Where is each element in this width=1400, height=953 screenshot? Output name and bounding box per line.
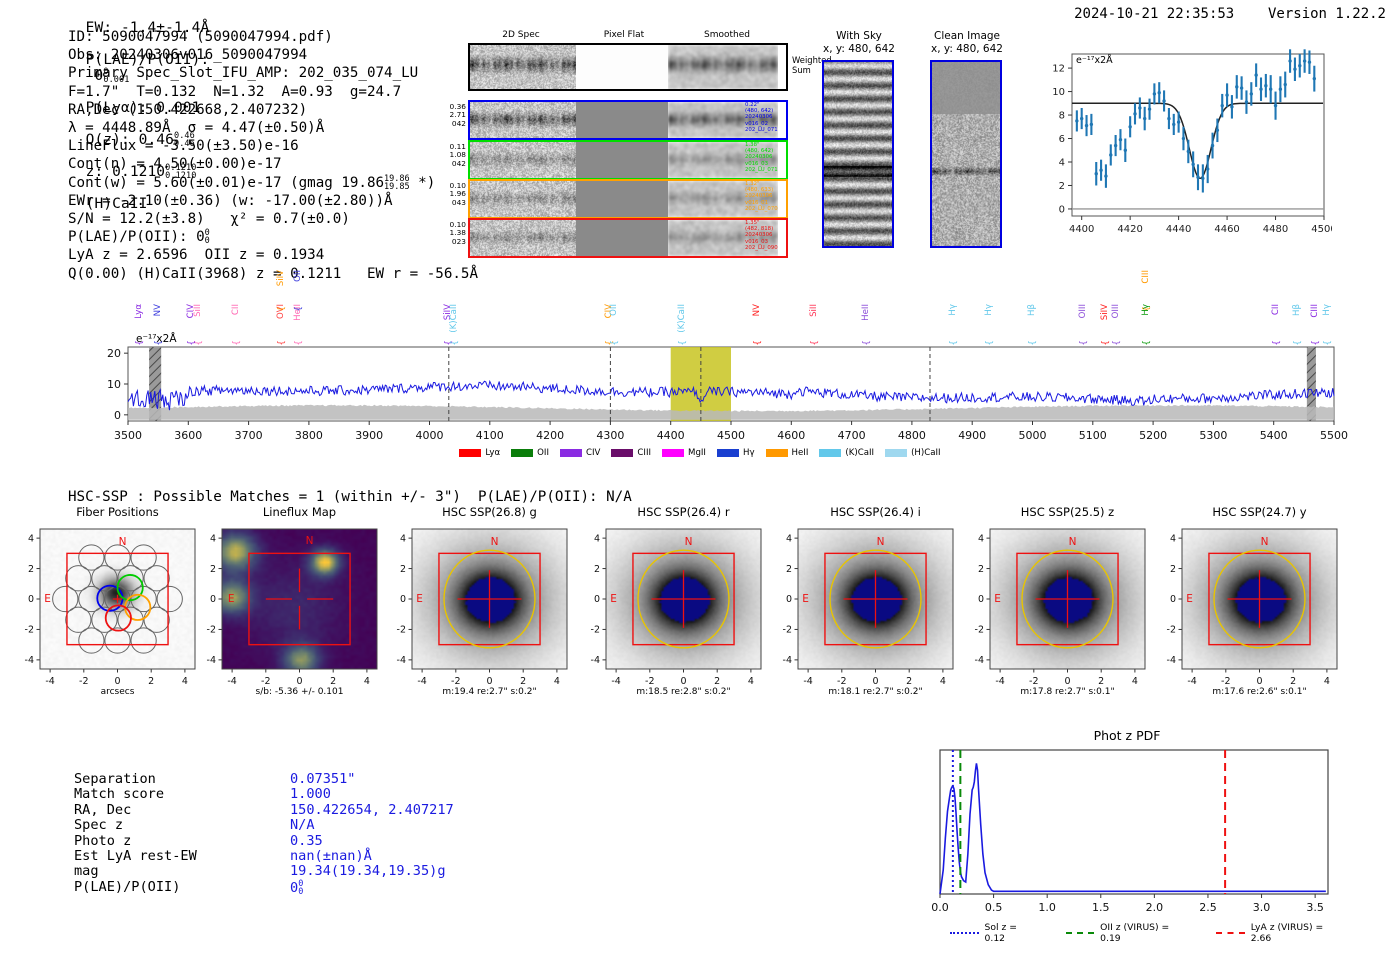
svg-text:5200: 5200 — [1139, 429, 1167, 442]
svg-text:E: E — [44, 593, 51, 605]
svg-text:4100: 4100 — [476, 429, 504, 442]
sky-panel-subtitle-0: x, y: 480, 642 — [804, 43, 914, 56]
svg-text:0: 0 — [296, 676, 302, 687]
cutout-cell-0-1 — [576, 102, 668, 138]
spectrum-line-label-KCaII-13: (K)CaII — [678, 304, 687, 333]
legend-item-6: HeII — [766, 448, 809, 458]
spectrum-line-label-KCaII-10: (K)CaII — [450, 304, 459, 333]
legend-swatch-1 — [511, 449, 533, 457]
svg-text:6: 6 — [1059, 134, 1065, 145]
spectrum-line-brace-10: { — [450, 340, 460, 346]
photz-legend-item-2: LyA z (VIRUS) = 2.66 — [1216, 922, 1342, 944]
legend-label-1: OII — [537, 448, 549, 458]
svg-text:0: 0 — [1256, 676, 1262, 687]
spectrum-line-brace-0: { — [135, 340, 145, 346]
svg-text:3500: 3500 — [114, 429, 142, 442]
svg-text:-2: -2 — [1221, 676, 1230, 687]
legend-label-4: MgII — [688, 448, 706, 458]
spectrum-line-brace-17: { — [949, 340, 959, 346]
photz-legend-swatch-1 — [1066, 932, 1095, 934]
legend-item-5: Hγ — [717, 448, 755, 458]
svg-text:2: 2 — [906, 676, 912, 687]
svg-text:3.5: 3.5 — [1306, 901, 1324, 914]
spectrum-line-brace-27: { — [1311, 340, 1321, 346]
cutout-right-val-2-4: 202_LU_070 — [745, 206, 805, 212]
legend-item-3: CIII — [611, 448, 651, 458]
match-row-value-2: 150.422654, 2.407217 — [290, 803, 454, 818]
svg-text:2: 2 — [330, 676, 336, 687]
cutout-column-header-0: 2D Spec — [468, 30, 574, 40]
info-line-7: Cont(n) = 4.50(±0.00)e-17 — [68, 155, 478, 173]
spectrum-line-label-HeII-16: HeII — [862, 304, 871, 321]
spectrum-line-label-CIV-3: CIV — [187, 304, 196, 318]
hsc-panel-caption-6: m:17.6 re:2.6" s:0.1" — [1147, 687, 1372, 697]
svg-text:3800: 3800 — [295, 429, 323, 442]
hsc-panel-title-2: HSC SSP(26.8) g — [392, 505, 587, 519]
cutout-row-2 — [468, 179, 788, 219]
legend-item-7: (K)CaII — [819, 448, 874, 458]
info-plae-errs: 00 — [205, 229, 210, 245]
svg-text:4: 4 — [1059, 158, 1065, 169]
svg-text:0: 0 — [28, 594, 34, 605]
svg-text:3700: 3700 — [235, 429, 263, 442]
svg-text:20: 20 — [107, 347, 121, 360]
hsc-panel-title-3: HSC SSP(26.4) r — [586, 505, 781, 519]
svg-text:E: E — [610, 593, 617, 605]
svg-text:-4: -4 — [1167, 655, 1176, 666]
sky-panel-title-text-0: With Sky — [804, 30, 914, 43]
spectrum-line-label-CII-25: CII — [1272, 304, 1281, 315]
svg-text:2: 2 — [594, 564, 600, 575]
cutout-row-left-values-0: 0.362.71042 — [440, 103, 466, 128]
line-profile-plot: 440044204440446044804500024681012e⁻¹⁷x2Å — [1032, 42, 1332, 254]
match-row-value-6: 19.34(19.34,19.35)g — [290, 864, 446, 879]
svg-text:-2: -2 — [79, 676, 88, 687]
hsc-panel-caption-2: m:19.4 re:2.7" s:0.2" — [377, 687, 602, 697]
cutout-left-val-1-2: 042 — [440, 160, 466, 168]
legend-item-8: (H)CaII — [885, 448, 941, 458]
info-line-4: RA,Dec (150.422668,2.407232) — [68, 101, 478, 119]
svg-text:4: 4 — [1324, 676, 1330, 687]
spec-cutout-panels: 2D SpecPixel FlatSmoothedWeighted Sum0.3… — [440, 30, 790, 255]
svg-text:4: 4 — [748, 676, 754, 687]
svg-text:N: N — [877, 536, 885, 548]
info-line-11: P(LAE)/P(OII): 000 — [68, 228, 478, 246]
legend-item-2: CIV — [560, 448, 600, 458]
svg-text:10: 10 — [1052, 87, 1065, 98]
spectrum-line-brace-15: { — [810, 340, 820, 346]
svg-text:4900: 4900 — [958, 429, 986, 442]
svg-text:0: 0 — [210, 594, 216, 605]
svg-text:4500: 4500 — [1311, 224, 1332, 235]
spectrum-line-brace-16: { — [862, 340, 872, 346]
svg-text:-2: -2 — [645, 676, 654, 687]
legend-label-5: Hγ — [743, 448, 755, 458]
legend-label-7: (K)CaII — [845, 448, 874, 458]
hsc-panel-title-1: Lineflux Map — [202, 505, 397, 519]
svg-text:-4: -4 — [417, 676, 426, 687]
svg-text:2: 2 — [978, 564, 984, 575]
svg-text:2: 2 — [210, 564, 216, 575]
legend-item-4: MgII — [662, 448, 706, 458]
photz-legend-label-0: Sol z = 0.12 — [985, 922, 1038, 944]
svg-text:-4: -4 — [227, 676, 236, 687]
svg-text:2.0: 2.0 — [1146, 901, 1164, 914]
info-line-5: λ = 4448.89Å σ = 4.47(±0.50)Å — [68, 119, 478, 137]
clean-image-masked-region — [932, 62, 1000, 114]
spectrum-legend: LyαOIICIVCIIIMgIIHγHeII(K)CaII(H)CaII — [0, 448, 1400, 458]
full-spectrum-plot: 0102035003600370038003900400041004200430… — [0, 262, 1400, 472]
cutout-left-val-2-2: 043 — [440, 199, 466, 207]
svg-text:0: 0 — [114, 676, 120, 687]
spectrum-line-brace-4: { — [232, 340, 242, 346]
match-row-value-0: 0.07351" — [290, 772, 355, 787]
hsc-panel-row: Fiber Positions-4-4-2-2002244NEarcsecsLi… — [0, 505, 1400, 720]
svg-text:4: 4 — [786, 533, 792, 544]
version-label: Version 1.22.2 — [1268, 6, 1386, 22]
sky-panel-title-1: Clean Imagex, y: 480, 642 — [912, 30, 1022, 56]
info-line-10: S/N = 12.2(±3.8) χ² = 0.7(±0.0) — [68, 210, 478, 228]
header-timestamp-version: 2024-10-21 22:35:53 Version 1.22.2 — [1074, 6, 1386, 22]
svg-text:1.0: 1.0 — [1038, 901, 1056, 914]
svg-text:2: 2 — [28, 564, 34, 575]
svg-text:0: 0 — [400, 594, 406, 605]
spectrum-line-label-OII-12: OII — [610, 304, 619, 316]
match-plae-errs: 00 — [298, 880, 303, 896]
svg-text:-2: -2 — [783, 625, 792, 636]
spectrum-line-brace-26: { — [1293, 340, 1303, 346]
svg-text:0: 0 — [680, 676, 686, 687]
svg-text:3600: 3600 — [174, 429, 202, 442]
cutout-row-right-values-3: 1.35"(482, 818)20240306v016_03202_LU_090 — [745, 220, 805, 251]
svg-text:-2: -2 — [451, 676, 460, 687]
spectrum-line-brace-28: { — [1323, 340, 1333, 346]
cutout-right-val-3-4: 202_LU_090 — [745, 245, 805, 251]
svg-text:4: 4 — [400, 533, 406, 544]
legend-swatch-3 — [611, 449, 633, 457]
svg-text:4460: 4460 — [1214, 224, 1239, 235]
match-row-key-0: Separation — [74, 772, 156, 787]
cutout-row-left-values-1: 0.111.08042 — [440, 143, 466, 168]
cutout-left-val-3-2: 023 — [440, 238, 466, 246]
svg-text:4: 4 — [182, 676, 188, 687]
spectrum-line-label-Hγ-28: Hγ — [1323, 304, 1332, 316]
svg-text:4: 4 — [364, 676, 370, 687]
svg-text:-2: -2 — [1029, 676, 1038, 687]
cutout-row-right-values-0: 0.22"(480, 642)20240306v016_02202_LU_071 — [745, 102, 805, 133]
sky-panel-image-0 — [822, 60, 894, 248]
cutout-cell-1-0 — [470, 142, 576, 178]
svg-text:0: 0 — [786, 594, 792, 605]
svg-text:2: 2 — [520, 676, 526, 687]
svg-text:5000: 5000 — [1019, 429, 1047, 442]
svg-text:4700: 4700 — [838, 429, 866, 442]
spectrum-line-label-CII-4: CII — [232, 304, 241, 315]
info-line-1: Obs: 20240306v016_5090047994 — [68, 46, 478, 64]
spectrum-line-brace-24: { — [1142, 340, 1152, 346]
svg-text:E: E — [228, 593, 235, 605]
svg-text:0: 0 — [594, 594, 600, 605]
spectrum-line-brace-7: { — [294, 340, 304, 346]
svg-text:2: 2 — [148, 676, 154, 687]
svg-text:0: 0 — [1064, 676, 1070, 687]
match-row-key-5: Est LyA rest-EW — [74, 849, 197, 864]
legend-swatch-2 — [560, 449, 582, 457]
legend-item-1: OII — [511, 448, 549, 458]
svg-text:0: 0 — [872, 676, 878, 687]
sky-panel-subtitle-1: x, y: 480, 642 — [912, 43, 1022, 56]
svg-text:4500: 4500 — [717, 429, 745, 442]
cutout-cell-3-1 — [576, 220, 668, 256]
svg-text:-4: -4 — [611, 676, 620, 687]
spectrum-line-brace-19: { — [1028, 340, 1038, 346]
svg-text:4: 4 — [978, 533, 984, 544]
svg-text:E: E — [416, 593, 423, 605]
svg-text:E: E — [802, 593, 809, 605]
spectrum-line-brace-20: { — [1079, 340, 1089, 346]
gmag-sub: 19.85 — [384, 183, 410, 191]
svg-text:E: E — [1186, 593, 1193, 605]
svg-text:2: 2 — [1059, 181, 1065, 192]
svg-text:-4: -4 — [975, 655, 984, 666]
svg-text:-2: -2 — [397, 625, 406, 636]
legend-swatch-8 — [885, 449, 907, 457]
cutout-row-1 — [468, 140, 788, 180]
svg-text:3900: 3900 — [355, 429, 383, 442]
legend-swatch-6 — [766, 449, 788, 457]
source-info-block: ID: 5090047994 (5090047994.pdf)Obs: 2024… — [68, 28, 478, 283]
svg-text:3.0: 3.0 — [1253, 901, 1271, 914]
match-row-value-7: 000 — [290, 880, 303, 896]
cutout-column-header-1: Pixel Flat — [578, 30, 670, 40]
photz-legend-label-2: LyA z (VIRUS) = 2.66 — [1251, 922, 1342, 944]
svg-text:4440: 4440 — [1166, 224, 1191, 235]
cutout-row-right-values-2: 1.32"(480, 633)20240306v016_01202_LU_070 — [745, 181, 805, 212]
line-profile-units-annotation: e⁻¹⁷x2Å — [1076, 55, 1113, 66]
spectrum-line-label-Hγ-24: Hγ — [1142, 304, 1151, 316]
spectrum-line-label-SiIV-6: SiIV — [277, 270, 286, 286]
legend-swatch-0 — [459, 449, 481, 457]
svg-text:2: 2 — [1290, 676, 1296, 687]
legend-label-2: CIV — [586, 448, 600, 458]
cutout-cell-1-1 — [576, 142, 668, 178]
spectrum-line-label-Lyα-0: Lyα — [135, 304, 144, 319]
spectrum-line-label-Hβ-19: Hβ — [1028, 304, 1037, 316]
cutout-cell-ws-2 — [668, 45, 778, 89]
spectrum-line-brace-6: { — [277, 306, 287, 312]
photz-legend-item-0: Sol z = 0.12 — [950, 922, 1038, 944]
spectrum-line-brace-13: { — [678, 340, 688, 346]
svg-text:0: 0 — [486, 676, 492, 687]
svg-text:N: N — [119, 536, 127, 548]
svg-text:-4: -4 — [803, 676, 812, 687]
spectrum-line-brace-14: { — [753, 340, 763, 346]
spectrum-line-label-OII-8: OII — [294, 270, 303, 282]
svg-text:N: N — [1069, 536, 1077, 548]
sky-panel-image-1 — [930, 60, 1002, 248]
legend-label-8: (H)CaII — [911, 448, 941, 458]
match-row-key-7: P(LAE)/P(OII) — [74, 880, 180, 895]
info-line-8: Cont(w) = 5.60(±0.01)e-17 (gmag 19.8619.… — [68, 174, 478, 192]
gmag-errs: 19.8619.85 — [384, 175, 410, 191]
spectrum-line-brace-12: { — [610, 340, 620, 346]
svg-text:4: 4 — [940, 676, 946, 687]
svg-text:N: N — [306, 535, 314, 547]
svg-text:4: 4 — [1132, 676, 1138, 687]
legend-label-3: CIII — [637, 448, 651, 458]
svg-text:-4: -4 — [995, 676, 1004, 687]
svg-text:-4: -4 — [783, 655, 792, 666]
photz-legend-swatch-2 — [1216, 932, 1245, 934]
legend-swatch-7 — [819, 449, 841, 457]
svg-text:0: 0 — [1170, 594, 1176, 605]
svg-text:2.5: 2.5 — [1199, 901, 1217, 914]
info-line-9: EWr = -2.10(±0.36) (w: -17.00(±2.80))Å — [68, 192, 478, 210]
spectrum-line-brace-5: { — [277, 340, 287, 346]
svg-text:-2: -2 — [975, 625, 984, 636]
svg-text:4400: 4400 — [657, 429, 685, 442]
spectrum-line-label-CIII-23: CIII — [1142, 270, 1151, 284]
svg-text:0: 0 — [978, 594, 984, 605]
spectrum-line-label-NV-14: NV — [753, 304, 762, 316]
spectrum-line-label-SiIV-21: SiIV — [1101, 304, 1110, 320]
cutout-row-left-values-3: 0.101.38023 — [440, 221, 466, 246]
svg-text:-2: -2 — [25, 625, 34, 636]
cutout-column-header-2: Smoothed — [672, 30, 782, 40]
info-line-2: Primary Spec_Slot_IFU_AMP: 202_035_074_L… — [68, 64, 478, 82]
cutout-row-left-values-2: 0.101.96043 — [440, 182, 466, 207]
svg-text:-2: -2 — [837, 676, 846, 687]
svg-text:-4: -4 — [591, 655, 600, 666]
match-row-value-1: 1.000 — [290, 787, 331, 802]
svg-text:4420: 4420 — [1117, 224, 1142, 235]
svg-text:4300: 4300 — [596, 429, 624, 442]
sky-panel-title-0: With Skyx, y: 480, 642 — [804, 30, 914, 56]
svg-text:0: 0 — [114, 409, 121, 422]
svg-text:4: 4 — [1170, 533, 1176, 544]
svg-text:5300: 5300 — [1199, 429, 1227, 442]
cutout-row-0 — [468, 100, 788, 140]
svg-text:4: 4 — [28, 533, 34, 544]
svg-text:1.5: 1.5 — [1092, 901, 1110, 914]
info-line-3: F=1.7" T=0.132 N=1.32 A=0.93 g=24.7 — [68, 83, 478, 101]
cutout-right-val-0-4: 202_LU_071 — [745, 127, 805, 133]
weighted-sum-row — [468, 43, 788, 91]
svg-text:-2: -2 — [1167, 625, 1176, 636]
svg-text:0.0: 0.0 — [931, 901, 949, 914]
spectrum-line-brace-1: { — [154, 340, 164, 346]
match-row-key-1: Match score — [74, 787, 164, 802]
svg-text:0: 0 — [1059, 204, 1065, 215]
sky-image-panels: With Skyx, y: 480, 642Clean Imagex, y: 4… — [812, 30, 1024, 255]
spectrum-line-label-CIII-27: CIII — [1311, 304, 1320, 318]
match-row-key-6: mag — [74, 864, 99, 879]
svg-text:E: E — [994, 593, 1001, 605]
match-row-key-4: Photo z — [74, 834, 131, 849]
svg-text:-4: -4 — [1187, 676, 1196, 687]
timestamp: 2024-10-21 22:35:53 — [1074, 6, 1234, 22]
legend-label-0: Lyα — [485, 448, 500, 458]
photz-legend: Sol z = 0.12OII z (VIRUS) = 0.19LyA z (V… — [950, 922, 1342, 944]
svg-text:-4: -4 — [207, 655, 216, 666]
spectrum-line-brace-22: { — [1112, 340, 1122, 346]
legend-swatch-4 — [662, 449, 684, 457]
hsc-panel-title-4: HSC SSP(26.4) i — [778, 505, 973, 519]
match-row-key-2: RA, Dec — [74, 803, 131, 818]
svg-text:5400: 5400 — [1260, 429, 1288, 442]
spectrum-line-brace-21: { — [1101, 340, 1111, 346]
spectrum-line-brace-3: { — [187, 340, 197, 346]
cutout-cell-ws-0 — [470, 45, 576, 89]
info-line-0: ID: 5090047994 (5090047994.pdf) — [68, 28, 478, 46]
cutout-cell-ws-1 — [576, 45, 668, 89]
hsc-panel-title-0: Fiber Positions — [20, 505, 215, 519]
svg-text:-2: -2 — [261, 676, 270, 687]
cutout-cell-0-0 — [470, 102, 576, 138]
photz-legend-label-1: OII z (VIRUS) = 0.19 — [1100, 922, 1188, 944]
spectrum-line-label-OIII-20: OIII — [1079, 304, 1088, 318]
spectrum-line-brace-18: { — [985, 340, 995, 346]
spectrum-line-brace-25: { — [1272, 340, 1282, 346]
photz-legend-item-1: OII z (VIRUS) = 0.19 — [1066, 922, 1189, 944]
hsc-header: HSC-SSP : Possible Matches = 1 (within +… — [68, 489, 632, 505]
svg-text:2: 2 — [714, 676, 720, 687]
svg-text:0.5: 0.5 — [985, 901, 1003, 914]
cutout-cell-2-0 — [470, 181, 576, 217]
spectrum-line-label-OIII-22: OIII — [1112, 304, 1121, 318]
spectrum-line-label-Hγ-18: Hγ — [985, 304, 994, 316]
match-row-value-5: nan(±nan)Å — [290, 849, 372, 864]
legend-item-0: Lyα — [459, 448, 500, 458]
svg-text:4: 4 — [210, 533, 216, 544]
photz-legend-swatch-0 — [950, 932, 979, 934]
svg-text:N: N — [491, 536, 499, 548]
svg-text:5100: 5100 — [1079, 429, 1107, 442]
match-row-value-3: N/A — [290, 818, 315, 833]
info-plae-sub: 0 — [205, 237, 210, 245]
svg-text:4600: 4600 — [777, 429, 805, 442]
svg-text:4: 4 — [554, 676, 560, 687]
svg-text:N: N — [685, 536, 693, 548]
spectrum-line-label-SiII-15: SiII — [810, 304, 819, 317]
photz-pdf-plot: Phot z PDF0.00.51.01.52.02.53.03.5Sol z … — [912, 728, 1342, 948]
hsc-panel-title-5: HSC SSP(25.5) z — [970, 505, 1165, 519]
svg-text:4: 4 — [594, 533, 600, 544]
svg-text:4480: 4480 — [1263, 224, 1288, 235]
legend-label-6: HeII — [792, 448, 809, 458]
spectrum-line-label-Hβ-26: Hβ — [1293, 304, 1302, 316]
svg-text:10: 10 — [107, 378, 121, 391]
cutout-row-3 — [468, 218, 788, 258]
svg-text:-4: -4 — [397, 655, 406, 666]
match-row-value-4: 0.35 — [290, 834, 323, 849]
cutout-right-val-1-4: 202_LU_071 — [745, 167, 805, 173]
svg-text:2: 2 — [1170, 564, 1176, 575]
svg-text:-2: -2 — [207, 625, 216, 636]
svg-text:-4: -4 — [45, 676, 54, 687]
hsc-panel-title-6: HSC SSP(24.7) y — [1162, 505, 1357, 519]
match-row-key-3: Spec z — [74, 818, 123, 833]
svg-text:-4: -4 — [25, 655, 34, 666]
legend-swatch-5 — [717, 449, 739, 457]
cutout-left-val-0-2: 042 — [440, 120, 466, 128]
spectrum-line-label-NV-1: NV — [154, 304, 163, 316]
info-line-6: LineFlux = -3.50(±3.50)e-16 — [68, 137, 478, 155]
svg-text:12: 12 — [1052, 64, 1065, 75]
svg-text:4400: 4400 — [1069, 224, 1094, 235]
cutout-row-right-values-1: 1.38"(480, 642)20240306v016_03202_LU_071 — [745, 142, 805, 173]
spectrum-line-label-Hγ-17: Hγ — [949, 304, 958, 316]
